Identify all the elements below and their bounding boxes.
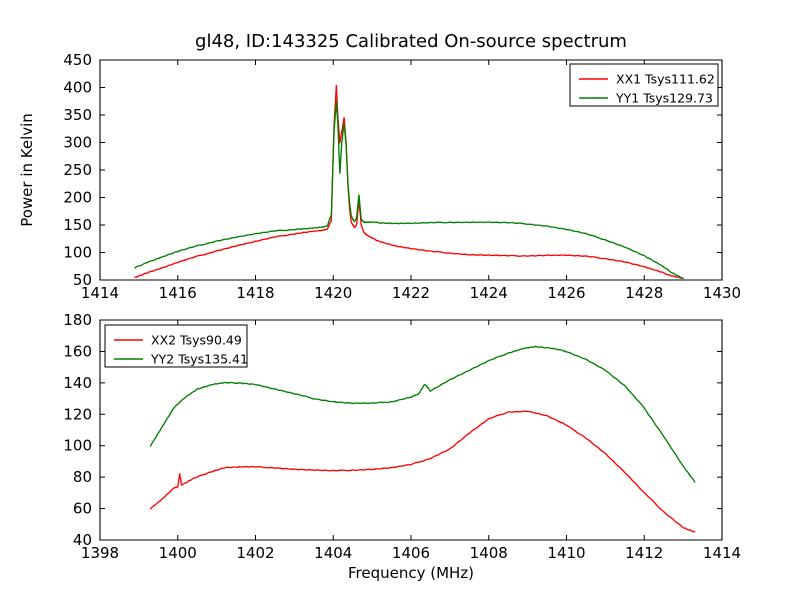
y-tick-label: 140 [63, 374, 92, 392]
lower-panel-legend[interactable]: XX2 Tsys90.49YY2 Tsys135.41 [105, 325, 248, 367]
x-tick-label: 1402 [236, 544, 274, 562]
y-tick-label: 250 [63, 161, 92, 179]
legend-label: XX1 Tsys111.62 [616, 72, 715, 87]
x-tick-label: 1428 [625, 284, 663, 302]
x-tick-label: 1420 [314, 284, 352, 302]
x-tick-label: 1406 [392, 544, 430, 562]
lower-x-axis-label: Frequency (MHz) [348, 564, 474, 582]
x-tick-label: 1408 [470, 544, 508, 562]
legend-label: YY1 Tsys129.73 [615, 91, 713, 106]
legend-label: XX2 Tsys90.49 [151, 333, 242, 348]
x-tick-label: 1430 [703, 284, 741, 302]
y-tick-label: 180 [63, 311, 92, 329]
y-tick-label: 120 [63, 405, 92, 423]
y-tick-label: 400 [63, 79, 92, 97]
x-tick-label: 1416 [159, 284, 197, 302]
x-tick-label: 1414 [703, 544, 741, 562]
x-tick-label: 1400 [159, 544, 197, 562]
y-tick-label: 50 [73, 271, 92, 289]
y-tick-label: 200 [63, 189, 92, 207]
x-tick-label: 1410 [547, 544, 585, 562]
y-tick-label: 100 [63, 244, 92, 262]
y-tick-label: 40 [73, 531, 92, 549]
upper-panel-legend[interactable]: XX1 Tsys111.62YY1 Tsys129.73 [570, 64, 718, 106]
y-tick-label: 450 [63, 51, 92, 69]
x-tick-label: 1426 [547, 284, 585, 302]
x-tick-label: 1424 [470, 284, 508, 302]
x-tick-label: 1422 [392, 284, 430, 302]
x-tick-label: 1412 [625, 544, 663, 562]
x-tick-label: 1418 [236, 284, 274, 302]
y-tick-label: 300 [63, 134, 92, 152]
y-tick-label: 80 [73, 468, 92, 486]
legend-label: YY2 Tsys135.41 [150, 352, 248, 367]
y-tick-label: 350 [63, 106, 92, 124]
y-tick-label: 100 [63, 437, 92, 455]
y-tick-label: 160 [63, 342, 92, 360]
matplotlib-figure: gl48, ID:143325 Calibrated On-source spe… [0, 0, 800, 600]
page-title: gl48, ID:143325 Calibrated On-source spe… [195, 31, 627, 52]
y-tick-label: 150 [63, 216, 92, 234]
upper-y-axis-label: Power in Kelvin [18, 113, 36, 227]
x-tick-label: 1404 [314, 544, 352, 562]
spectrum-plot-canvas: gl48, ID:143325 Calibrated On-source spe… [0, 0, 800, 600]
y-tick-label: 60 [73, 500, 92, 518]
